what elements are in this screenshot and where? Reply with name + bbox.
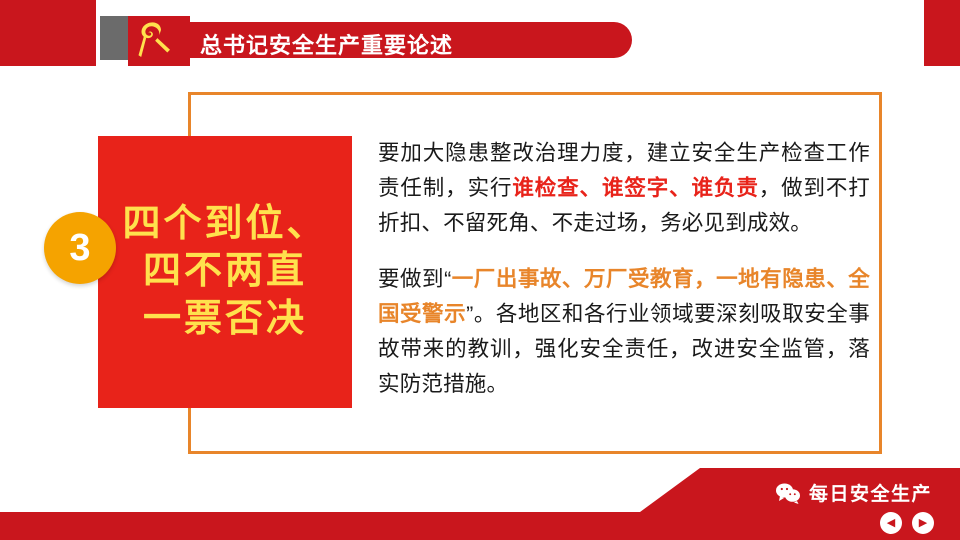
headline-box: 四个到位、 四不两直 一票否决 [98, 136, 352, 408]
header-left-block [0, 0, 96, 66]
headline-line-2: 四不两直 [143, 248, 307, 296]
paragraph-1-segment-2-highlight: 谁检查、谁签字、谁负责 [512, 176, 758, 200]
wechat-account-name: 每日安全生产 [809, 479, 932, 506]
prev-arrow-icon[interactable]: ◀ [880, 512, 902, 534]
slide-navigation[interactable]: ◀ ▶ [880, 512, 934, 534]
body-text-area: 要加大隐患整改治理力度，建立安全生产检查工作责任制，实行谁检查、谁签字、谁负责，… [378, 136, 870, 402]
headline-line-3: 一票否决 [143, 296, 307, 344]
wechat-account-row: 每日安全生产 [775, 479, 932, 506]
header-right-block [924, 0, 960, 66]
paragraph-2-segment-1: 要做到“ [378, 267, 451, 291]
next-arrow-icon[interactable]: ▶ [912, 512, 934, 534]
paragraph-1: 要加大隐患整改治理力度，建立安全生产检查工作责任制，实行谁检查、谁签字、谁负责，… [378, 136, 870, 240]
page-title: 总书记安全生产重要论述 [200, 28, 453, 60]
party-emblem-icon [128, 16, 190, 66]
paragraph-2: 要做到“一厂出事故、万厂受教育，一地有隐患、全国受警示”。各地区和各行业领域要深… [378, 262, 870, 401]
section-number-badge: 3 [44, 212, 116, 284]
wechat-icon [775, 482, 801, 504]
slide-root: 总书记安全生产重要论述 四个到位、 四不两直 一票否决 3 要加大隐患整改治理力… [0, 0, 960, 540]
headline-line-1: 四个到位、 [122, 201, 327, 249]
